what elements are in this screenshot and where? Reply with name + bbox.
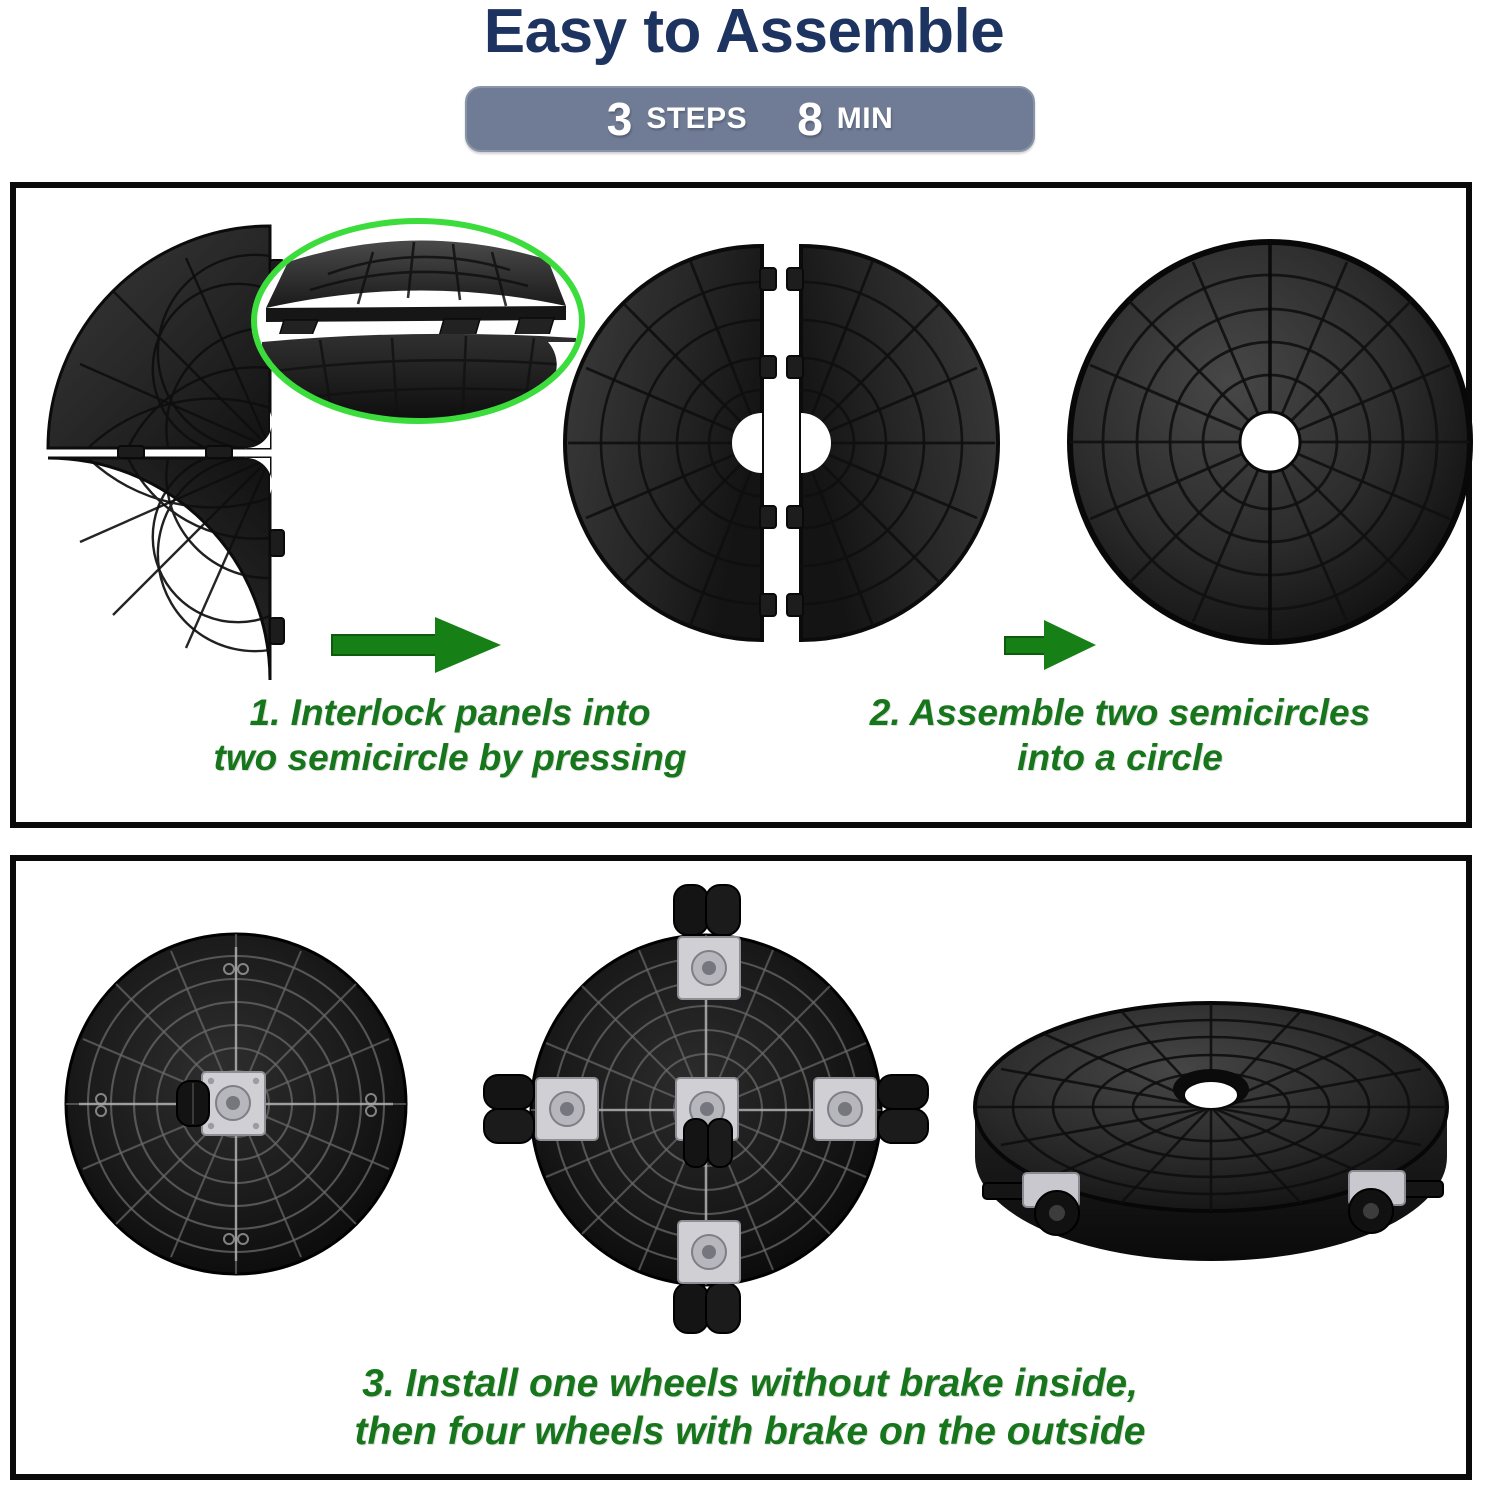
steps-time-badge: 3 STEPS 8 MIN — [465, 86, 1035, 152]
disc-underside-five-casters — [456, 875, 956, 1345]
arrow-shaft — [1004, 636, 1048, 655]
semicircle-left — [564, 238, 779, 648]
semicircle-right — [784, 238, 999, 648]
interlock-detail-inset — [248, 216, 588, 431]
quarter-panel-lower — [38, 450, 288, 690]
arrow-shaft — [331, 634, 439, 656]
caption-step-3: 3. Install one wheels without brake insi… — [160, 1360, 1340, 1455]
caster-top — [674, 885, 740, 999]
steps-count: 3 — [607, 96, 633, 142]
caster-center — [177, 1072, 265, 1135]
minutes-label: MIN — [837, 104, 894, 134]
assembled-circle — [1064, 236, 1476, 648]
header: Easy to Assemble 3 STEPS 8 MIN — [0, 0, 1488, 178]
caption-step-2: 2. Assemble two semicircles into a circl… — [780, 690, 1460, 780]
caption-step-1: 1. Interlock panels into two semicircle … — [100, 690, 800, 780]
caster-front-left — [983, 1173, 1079, 1235]
arrow-head — [435, 617, 501, 673]
disc-underside-one-caster — [61, 929, 411, 1279]
caster-front-right — [1349, 1171, 1443, 1233]
steps-label: STEPS — [646, 104, 747, 134]
caster-right — [814, 1075, 928, 1143]
assembly-instruction-graphic: Easy to Assemble 3 STEPS 8 MIN — [0, 0, 1488, 1500]
caster-bottom — [674, 1221, 740, 1333]
arrow-right-1 — [331, 613, 506, 675]
caster-left — [484, 1075, 598, 1143]
finished-plant-caddy — [961, 961, 1461, 1291]
page-title: Easy to Assemble — [0, 0, 1488, 67]
minutes-count: 8 — [797, 96, 823, 142]
caster-center — [676, 1078, 738, 1167]
